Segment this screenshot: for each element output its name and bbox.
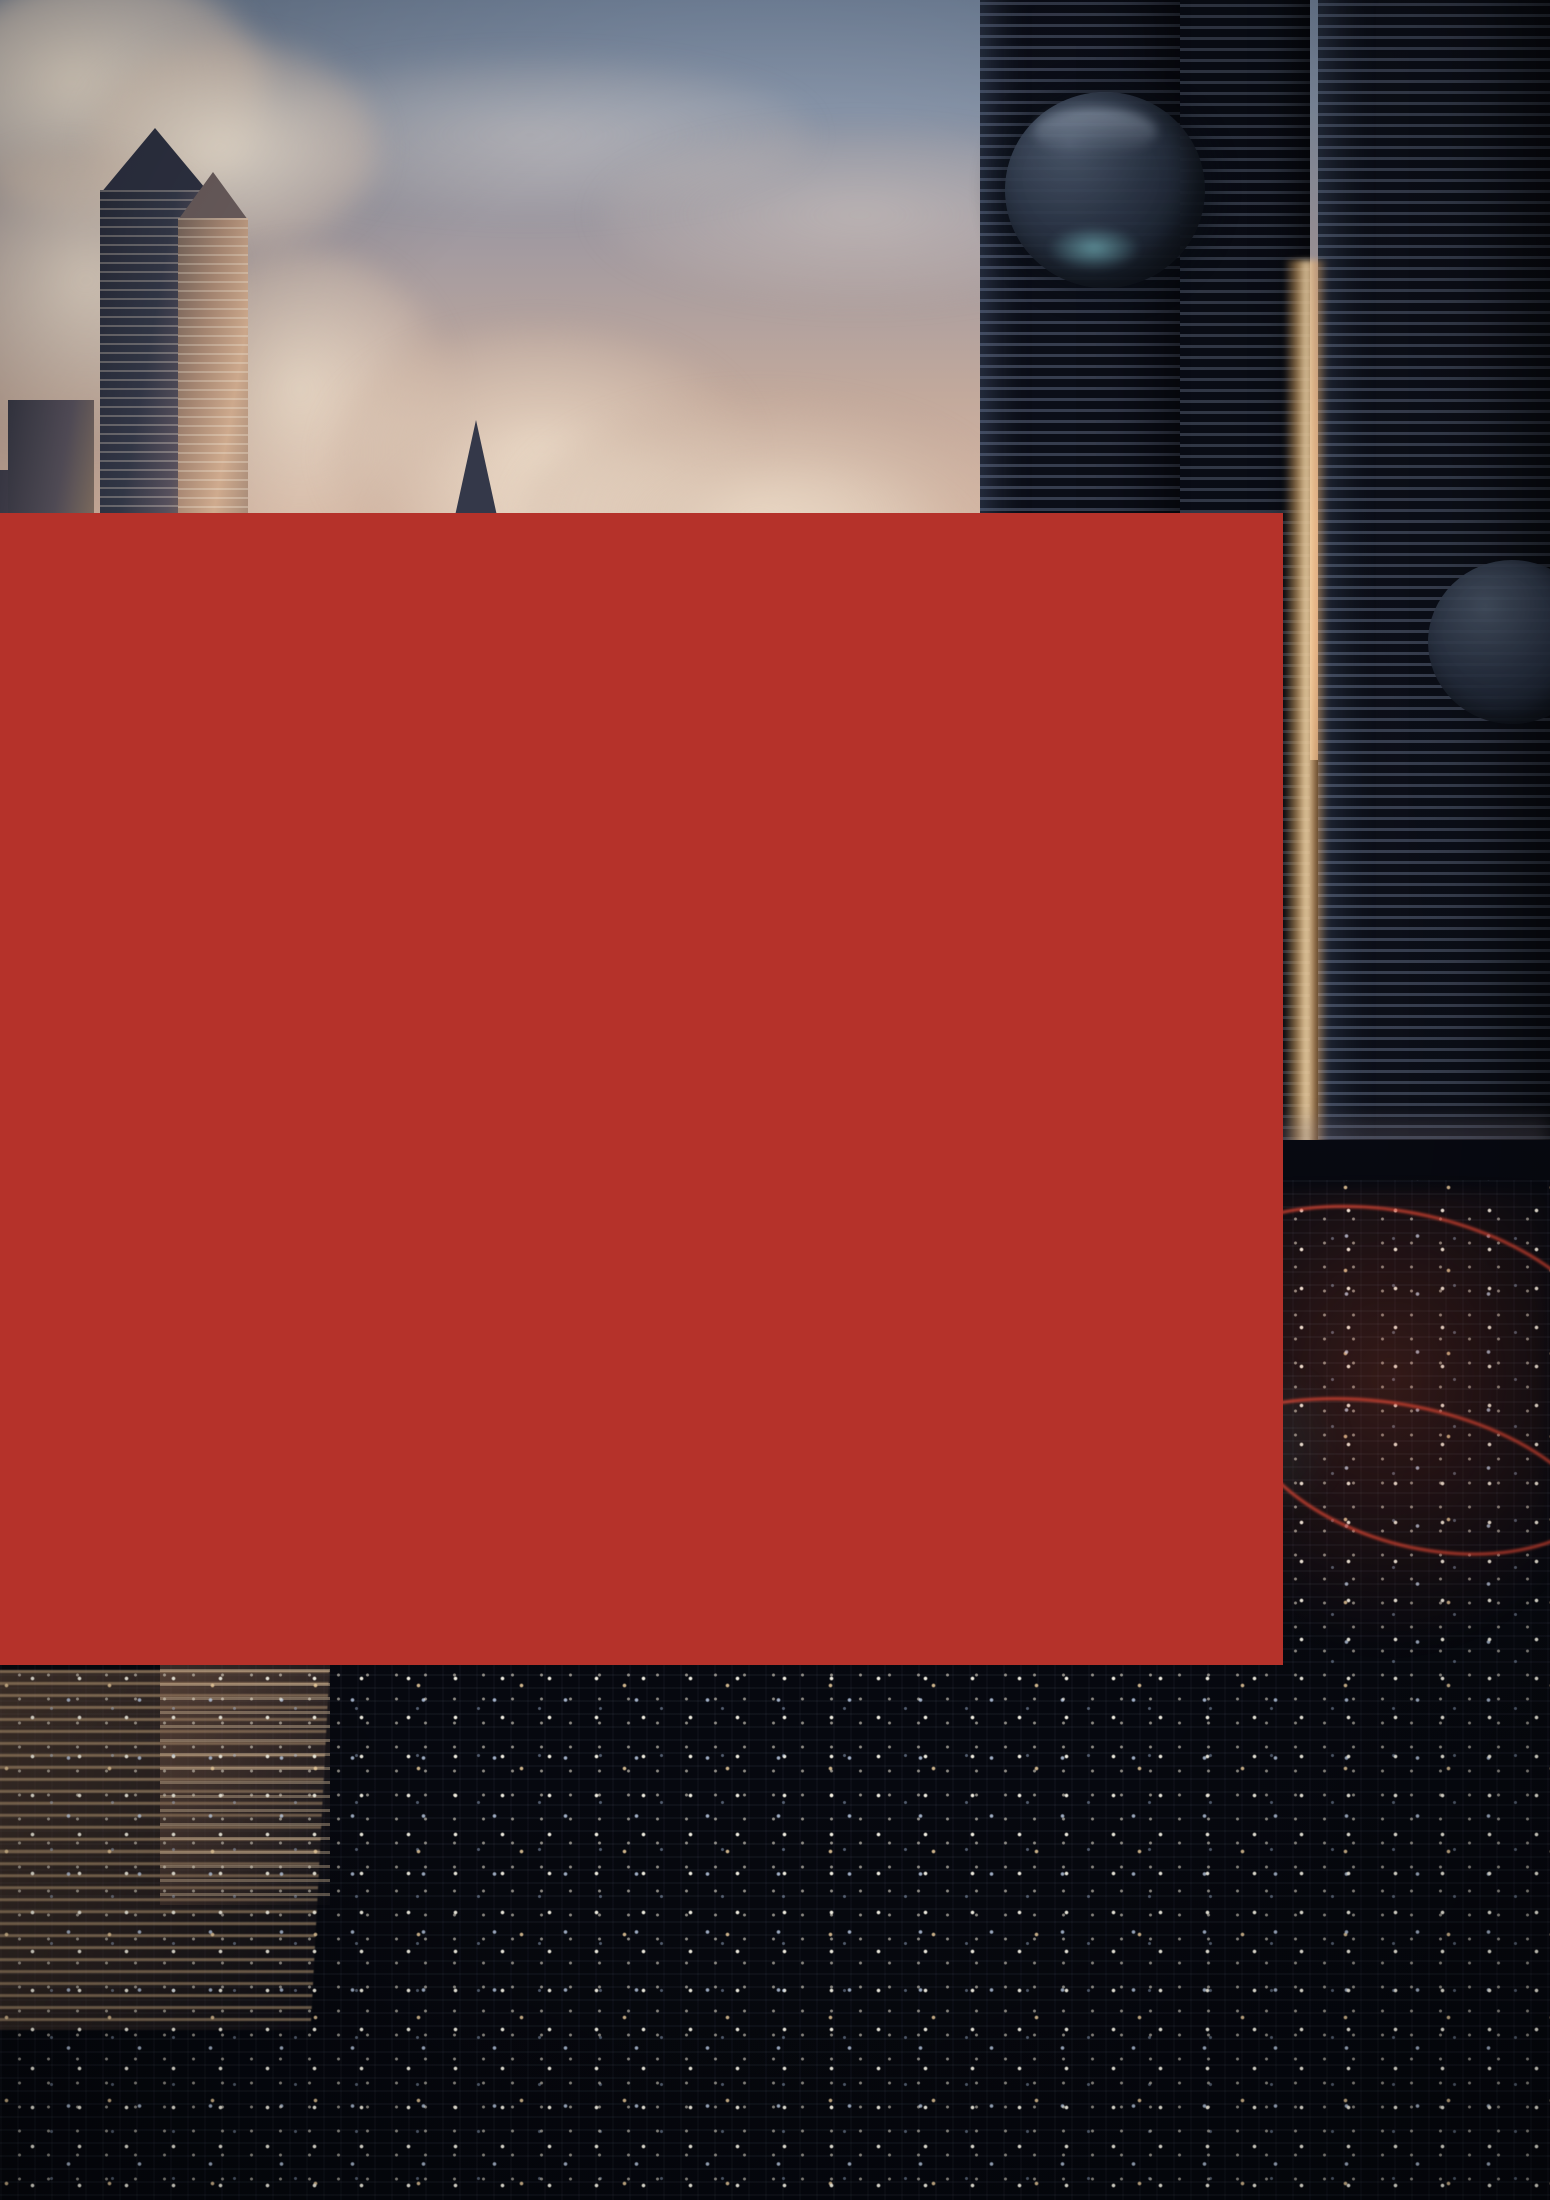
book-cover: Василий Путённый Главнаядоминанта Расска… xyxy=(0,0,1550,2200)
title-panel xyxy=(0,513,1283,1665)
